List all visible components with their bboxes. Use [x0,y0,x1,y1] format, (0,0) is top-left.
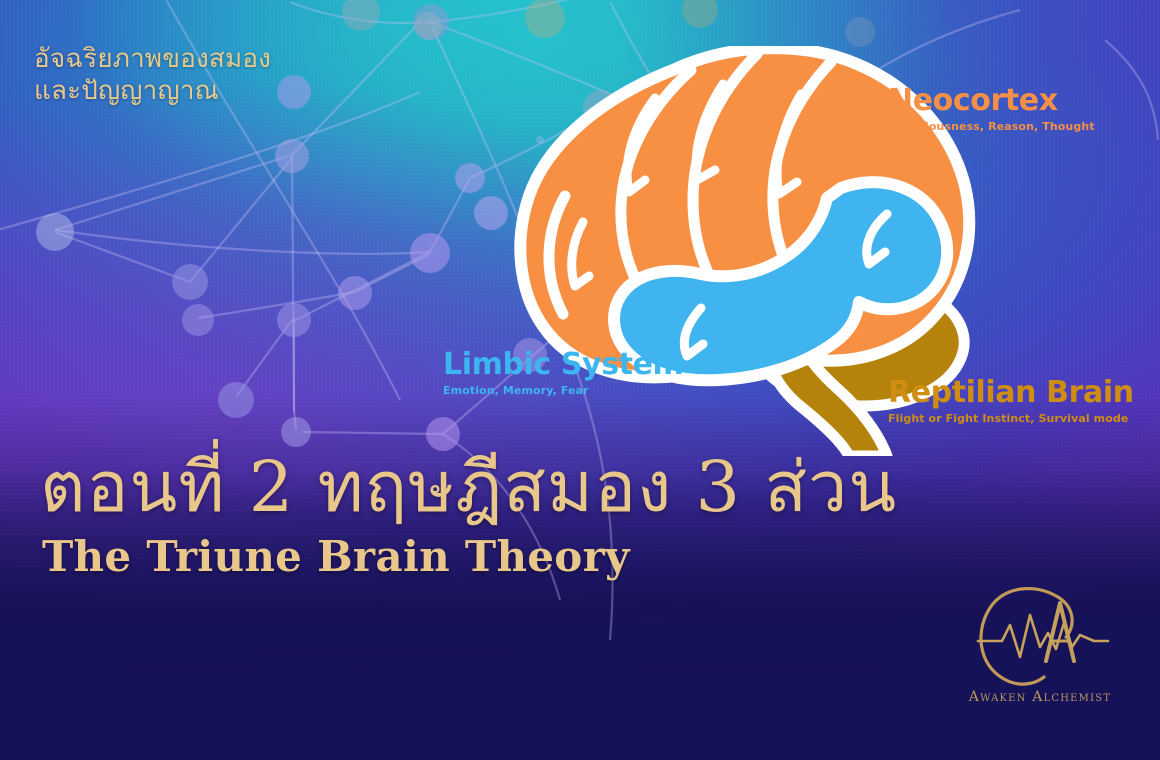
brain-label-limbic-system: Limbic System Emotion, Memory, Fear [443,350,683,397]
brand-name: Awaken Alchemist [950,689,1130,705]
neocortex-subtitle: Consciousness, Reason, Thought [888,120,1095,133]
reptilian-subtitle: Flight or Fight Instinct, Survival mode [888,412,1134,425]
reptilian-title: Reptilian Brain [888,378,1134,408]
kicker-text: อัจฉริยภาพของสมอง และปัญญาญาณ [34,44,271,107]
main-title-thai: ตอนที่ 2 ทฤษฎีสมอง 3 ส่วน [40,452,897,522]
brain-label-neocortex: Neocortex Consciousness, Reason, Thought [888,86,1095,133]
limbic-title: Limbic System [443,350,683,380]
awaken-alchemist-mark-icon [962,585,1112,690]
poster-canvas: อัจฉริยภาพของสมอง และปัญญาญาณ [0,0,1160,760]
brand-logo: Awaken Alchemist [950,585,1130,725]
brain-label-reptilian-brain: Reptilian Brain Flight or Fight Instinct… [888,378,1134,425]
neocortex-title: Neocortex [888,86,1095,116]
main-title-english: The Triune Brain Theory [42,536,630,578]
limbic-subtitle: Emotion, Memory, Fear [443,384,683,397]
